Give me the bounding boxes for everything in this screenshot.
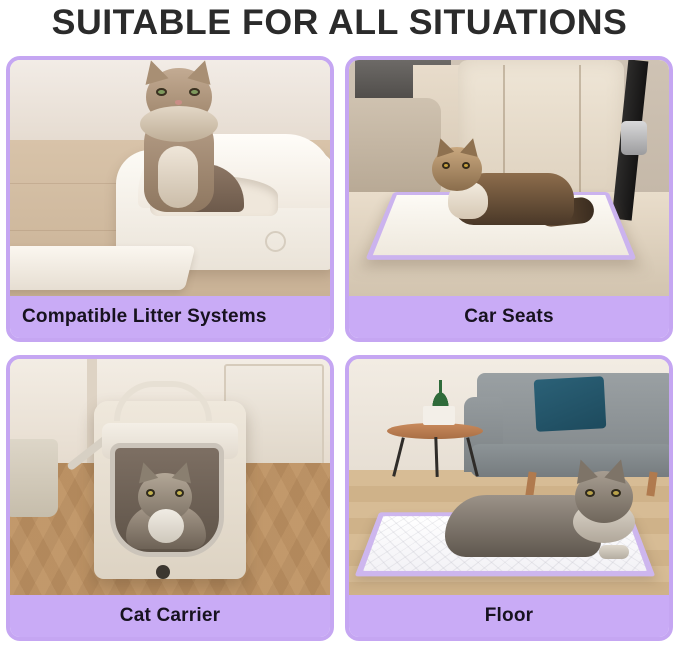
center-console bbox=[349, 98, 441, 197]
cat-eye-left bbox=[146, 489, 155, 497]
cat-nose bbox=[175, 100, 182, 105]
panel-litter-systems: Compatible Litter Systems bbox=[6, 56, 334, 342]
caption-cat-carrier: Cat Carrier bbox=[10, 595, 330, 637]
caption-floor: Floor bbox=[349, 595, 669, 637]
panel-floor: Floor bbox=[345, 355, 673, 641]
cat-chest bbox=[158, 146, 198, 208]
cat-paw bbox=[599, 545, 629, 559]
photo-litter-systems bbox=[10, 60, 330, 296]
potted-plant-leaves bbox=[426, 380, 455, 408]
cat-eye-right bbox=[175, 489, 184, 497]
photo-floor bbox=[349, 359, 669, 595]
panel-car-seats: Car Seats bbox=[345, 56, 673, 342]
caption-car-seats: Car Seats bbox=[349, 296, 669, 338]
cat-chest bbox=[148, 509, 184, 543]
teal-cushion bbox=[533, 376, 606, 432]
page-title: SUITABLE FOR ALL SITUATIONS bbox=[0, 0, 679, 46]
cat-on-car-seat bbox=[432, 133, 580, 225]
caption-litter-systems: Compatible Litter Systems bbox=[10, 296, 330, 338]
photo-cat-carrier bbox=[10, 359, 330, 595]
seatbelt-buckle bbox=[621, 121, 647, 155]
cat-on-floor-pad bbox=[445, 453, 635, 557]
cat-ruff bbox=[140, 106, 218, 142]
waste-bin bbox=[10, 439, 58, 517]
panel-grid: Compatible Litter Systems bbox=[6, 56, 673, 641]
cat-eye-right bbox=[189, 88, 200, 96]
panel-cat-carrier: Cat Carrier bbox=[6, 355, 334, 641]
carrier-foot-stud bbox=[156, 565, 170, 579]
cat-in-litter-box bbox=[130, 62, 226, 212]
litter-box-latch bbox=[265, 231, 286, 252]
cat-in-carrier bbox=[122, 465, 208, 549]
pull-out-tray bbox=[10, 246, 195, 290]
plant-pot bbox=[423, 406, 455, 425]
photo-car-seats bbox=[349, 60, 669, 296]
cat-eye-left bbox=[156, 88, 167, 96]
infographic-page: SUITABLE FOR ALL SITUATIONS bbox=[0, 0, 679, 647]
